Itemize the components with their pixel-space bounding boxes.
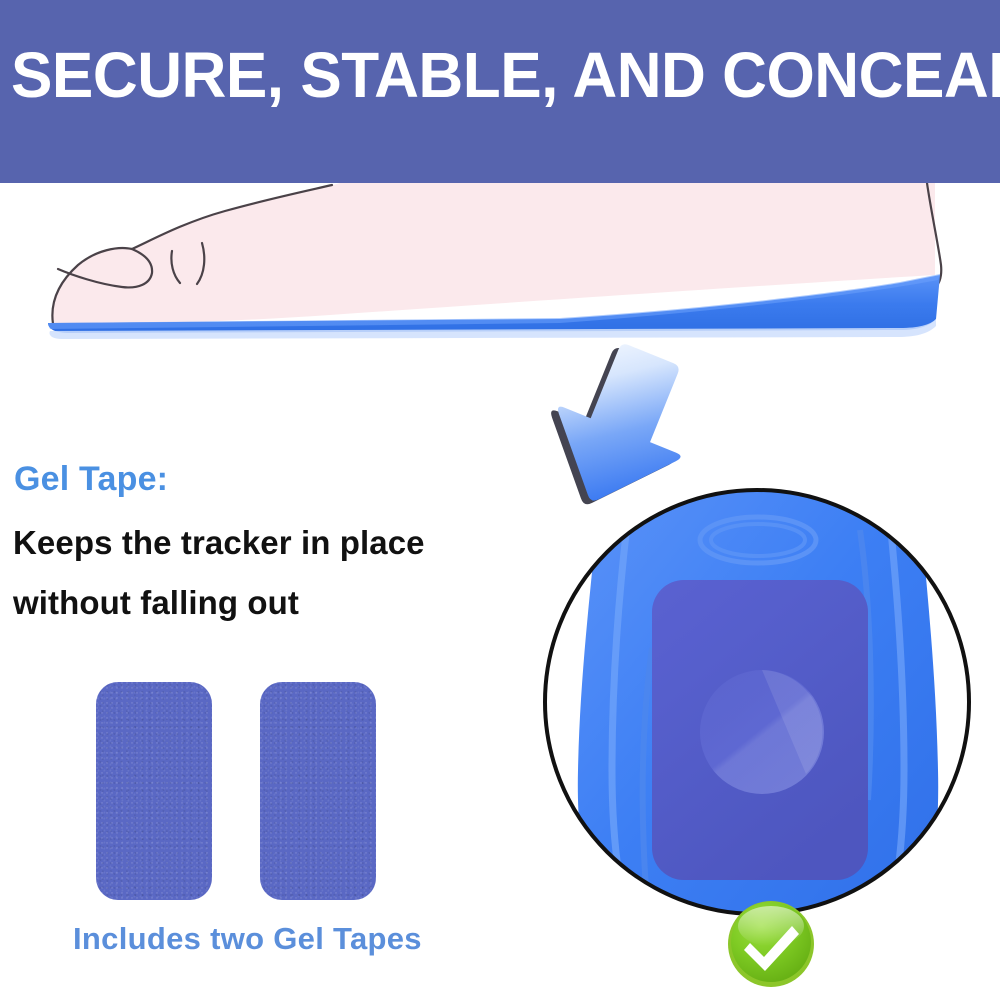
gel-tape-swatch [96, 682, 212, 900]
foot-side-view-illustration [0, 183, 1000, 348]
gel-tape-description-line-1: Keeps the tracker in place [13, 513, 533, 573]
magnifier-content [530, 470, 990, 930]
gel-tape-swatch-group [96, 682, 396, 900]
gel-tape-heading: Gel Tape: [14, 459, 168, 499]
page-title: SECURE, STABLE, AND CONCEALE [11, 41, 1000, 109]
magnified-heel-pocket-circle [530, 470, 990, 930]
green-check-badge-icon [726, 898, 816, 988]
includes-two-gel-tapes-caption: Includes two Gel Tapes [73, 920, 422, 958]
gel-tape-swatch [260, 682, 376, 900]
product-infographic-page: SECURE, STABLE, AND CONCEALE [0, 0, 1000, 1000]
header-banner: SECURE, STABLE, AND CONCEALE [0, 0, 1000, 183]
gel-tape-description-line-2: without falling out [13, 573, 533, 633]
gel-tape-description: Keeps the tracker in place without falli… [13, 513, 533, 633]
badge-gloss [738, 906, 804, 946]
